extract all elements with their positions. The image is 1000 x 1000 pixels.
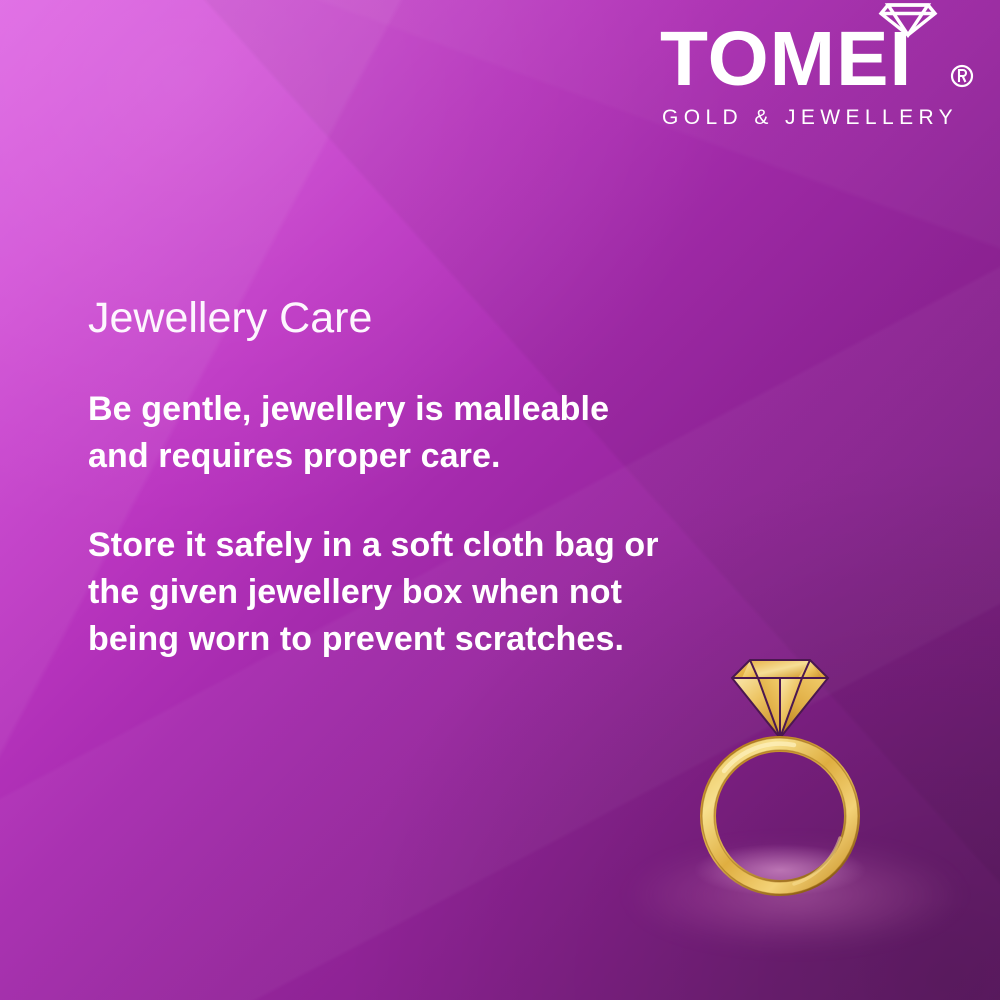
- logo-wordmark: TOMEI: [660, 18, 912, 100]
- care-paragraph-2: Store it safely in a soft cloth bag or t…: [88, 522, 663, 663]
- tomei-logo: TOMEI GOLD & JEWELLERY: [660, 22, 980, 104]
- registered-trademark-icon: [950, 64, 974, 88]
- diamond-outline-icon: [878, 0, 938, 40]
- page-title: Jewellery Care: [88, 292, 663, 344]
- poster-canvas: TOMEI GOLD & JEWELLERY Jewellery Care Be…: [0, 0, 1000, 1000]
- diamond-gem-icon: [732, 660, 828, 738]
- diamond-ring-illustration: [690, 638, 870, 908]
- care-paragraph-1: Be gentle, jewellery is malleable and re…: [88, 386, 663, 480]
- care-copy-block: Jewellery Care Be gentle, jewellery is m…: [88, 292, 663, 663]
- logo-tagline: GOLD & JEWELLERY: [662, 106, 972, 130]
- logo-wordmark-row: TOMEI: [660, 22, 980, 104]
